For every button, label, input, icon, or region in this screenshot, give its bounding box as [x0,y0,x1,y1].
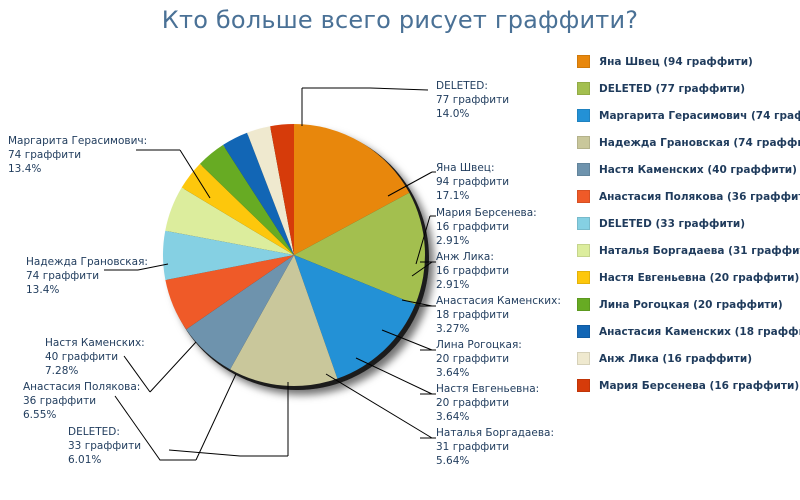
callout-nastya-evgenevna: Настя Евгеньевна: 20 граффити 3.64% [436,382,539,424]
legend-swatch-icon [577,352,590,365]
callout-name: Анастасия Полякова: [23,380,140,394]
callout-name: Анж Лика: [436,250,509,264]
legend-item-label: Настя Каменских (40 граффити) [599,164,797,176]
callout-count: 77 граффити [436,93,509,107]
callout-nastya-kamenskih: Настя Каменских: 40 граффити 7.28% [45,336,145,378]
callout-name: DELETED: [436,79,509,93]
legend-item[interactable]: Яна Швец (94 граффити) [572,48,800,75]
callout-name: DELETED: [68,425,141,439]
legend-swatch-icon [577,217,590,230]
legend-item-label: Настя Евгеньевна (20 граффити) [599,272,799,284]
callout-nadezhda-granovskaya: Надежда Грановская: 74 граффити 13.4% [26,255,148,297]
callout-name: Настя Евгеньевна: [436,382,539,396]
legend-swatch-icon [577,298,590,311]
callout-deleted-33: DELETED: 33 граффити 6.01% [68,425,141,467]
callout-count: 31 граффити [436,440,554,454]
legend-swatch-icon [577,163,590,176]
callout-percent: 13.4% [26,283,148,297]
legend-item-label: Лина Рогоцкая (20 граффити) [599,299,783,311]
legend-item[interactable]: Надежда Грановская (74 граффити) [572,129,800,156]
callout-name: Настя Каменских: [45,336,145,350]
legend-item[interactable]: Мария Берсенева (16 граффити) [572,372,800,399]
callout-percent: 3.64% [436,410,539,424]
legend-item-label: Мария Берсенева (16 граффити) [599,380,799,392]
callout-percent: 7.28% [45,364,145,378]
callout-percent: 13.4% [8,162,147,176]
legend-swatch-icon [577,82,590,95]
callout-name: Надежда Грановская: [26,255,148,269]
legend-swatch-icon [577,109,590,122]
legend-item-label: DELETED (77 граффити) [599,83,745,95]
callout-anastasia-kamenskih: Анастасия Каменских: 18 граффити 3.27% [436,294,561,336]
callout-name: Анастасия Каменских: [436,294,561,308]
callout-count: 20 граффити [436,396,539,410]
callout-maria-berseneva: Мария Берсенева: 16 граффити 2.91% [436,206,537,248]
legend-item[interactable]: Настя Евгеньевна (20 граффити) [572,264,800,291]
legend-item[interactable]: Наталья Боргадаева (31 граффити) [572,237,800,264]
legend-item-label: Анастасия Полякова (36 граффити) [599,191,800,203]
callout-count: 74 граффити [8,148,147,162]
callout-count: 20 граффити [436,352,522,366]
legend: Яна Швец (94 граффити)DELETED (77 граффи… [572,48,800,399]
callout-percent: 3.27% [436,322,561,336]
callout-margarita-gerasimovich: Маргарита Герасимович: 74 граффити 13.4% [8,134,147,176]
leader-anast-polyak [196,374,236,460]
callout-count: 94 граффити [436,175,509,189]
callout-lina-rogockaya: Лина Рогоцкая: 20 граффити 3.64% [436,338,522,380]
legend-item[interactable]: Анж Лика (16 граффити) [572,345,800,372]
callout-count: 18 граффити [436,308,561,322]
legend-item-label: DELETED (33 граффити) [599,218,745,230]
callout-percent: 3.64% [436,366,522,380]
legend-item[interactable]: Лина Рогоцкая (20 граффити) [572,291,800,318]
callout-count: 36 граффити [23,394,140,408]
callout-percent: 5.64% [436,454,554,468]
pie-slices-group [163,124,429,390]
legend-item[interactable]: Анастасия Полякова (36 граффити) [572,183,800,210]
legend-item[interactable]: Анастасия Каменских (18 граффити) [572,318,800,345]
legend-swatch-icon [577,271,590,284]
callout-name: Яна Швец: [436,161,509,175]
legend-item[interactable]: Настя Каменских (40 граффити) [572,156,800,183]
callout-deleted-77: DELETED: 77 граффити 14.0% [436,79,509,121]
legend-item-label: Наталья Боргадаева (31 граффити) [599,245,800,257]
legend-swatch-icon [577,55,590,68]
leader-natalya-borg [326,374,432,438]
callout-name: Наталья Боргадаева: [436,426,554,440]
callout-name: Мария Берсенева: [436,206,537,220]
leader-tail-deleted-33 [169,450,288,456]
legend-swatch-icon [577,190,590,203]
callout-percent: 6.55% [23,408,140,422]
callout-yana-shvec: Яна Швец: 94 граффити 17.1% [436,161,509,203]
legend-item-label: Надежда Грановская (74 граффити) [599,137,800,149]
callout-percent: 6.01% [68,453,141,467]
legend-item-label: Анж Лика (16 граффити) [599,353,752,365]
leader-tail-deleted-77 [302,88,428,90]
legend-item[interactable]: Маргарита Герасимович (74 граффити) [572,102,800,129]
chart-page: Кто больше всего рисует граффити? DELETE… [0,0,800,500]
legend-item-label: Маргарита Герасимович (74 граффити) [599,110,800,122]
callout-count: 74 граффити [26,269,148,283]
callout-name: Лина Рогоцкая: [436,338,522,352]
callout-percent: 2.91% [436,234,537,248]
callout-name: Маргарита Герасимович: [8,134,147,148]
callout-anzh-lika: Анж Лика: 16 граффити 2.91% [436,250,509,292]
callout-percent: 14.0% [436,107,509,121]
callout-percent: 2.91% [436,278,509,292]
legend-swatch-icon [577,325,590,338]
legend-item[interactable]: DELETED (77 граффити) [572,75,800,102]
legend-swatch-icon [577,136,590,149]
leader-nastya-kamen [150,342,196,392]
pie-chart-area: DELETED: 77 граффити 14.0% Яна Швец: 94 … [0,0,570,500]
legend-item[interactable]: DELETED (33 граффити) [572,210,800,237]
legend-swatch-icon [577,379,590,392]
legend-swatch-icon [577,244,590,257]
callout-count: 33 граффити [68,439,141,453]
leader-nastya-evg [356,358,432,394]
callout-natalya-borgadaeva: Наталья Боргадаева: 31 граффити 5.64% [436,426,554,468]
legend-item-label: Анастасия Каменских (18 граффити) [599,326,800,338]
legend-item-label: Яна Швец (94 граффити) [599,56,753,68]
callout-count: 16 граффити [436,220,537,234]
callout-count: 16 граффити [436,264,509,278]
callout-anastasia-polyakova: Анастасия Полякова: 36 граффити 6.55% [23,380,140,422]
callout-count: 40 граффити [45,350,145,364]
callout-percent: 17.1% [436,189,509,203]
